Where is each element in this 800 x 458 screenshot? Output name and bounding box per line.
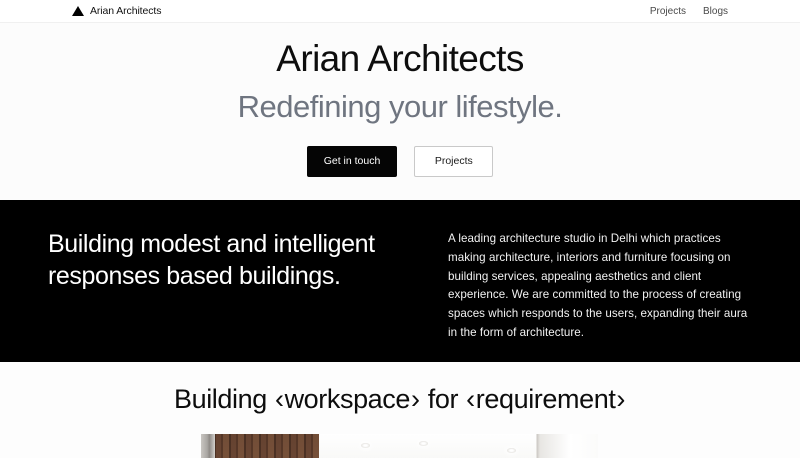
about-band-right: A leading architecture studio in Delhi w… <box>448 228 752 362</box>
about-band-left: Building modest and intelligent response… <box>48 228 448 362</box>
hero-actions: Get in touch Projects <box>307 146 494 177</box>
showcase-heading: Building ‹workspace› for ‹requirement› <box>174 385 626 415</box>
nav-link-blogs[interactable]: Blogs <box>703 6 728 17</box>
hero-subtitle: Redefining your lifestyle. <box>238 89 563 125</box>
showcase-token-requirement: requirement <box>476 384 616 414</box>
wood-paneling-shadow <box>215 434 319 458</box>
chevron-left-icon-2: ‹ <box>465 384 476 414</box>
right-wall-edge <box>537 434 540 458</box>
right-wall <box>536 434 598 458</box>
get-in-touch-button[interactable]: Get in touch <box>307 146 398 177</box>
showcase-token-workspace: workspace <box>285 384 410 414</box>
ceiling-light-3 <box>507 448 516 453</box>
triangle-logo-icon <box>72 6 84 16</box>
nav-link-projects[interactable]: Projects <box>650 6 686 17</box>
about-heading: Building modest and intelligent response… <box>48 228 424 292</box>
brand-name: Arian Architects <box>90 5 161 17</box>
ceiling-light-1 <box>361 443 370 448</box>
hero-title: Arian Architects <box>276 38 523 81</box>
showcase-heading-word-for: for <box>428 384 458 414</box>
chevron-right-icon-2: › <box>615 384 626 414</box>
landing-page: Arian Architects Projects Blogs Arian Ar… <box>0 0 800 458</box>
showcase-heading-word-building: Building <box>174 384 267 414</box>
nav-links: Projects Blogs <box>650 6 728 17</box>
ceiling-light-2 <box>419 441 428 446</box>
door-frame <box>201 434 215 458</box>
brand-logo[interactable]: Arian Architects <box>72 5 161 17</box>
chevron-left-icon-1: ‹ <box>274 384 285 414</box>
projects-button[interactable]: Projects <box>414 146 493 177</box>
chevron-right-icon-1: › <box>410 384 421 414</box>
about-band: Building modest and intelligent response… <box>0 200 800 362</box>
about-paragraph: A leading architecture studio in Delhi w… <box>448 230 752 343</box>
interior-photo <box>201 434 598 458</box>
showcase-image <box>201 434 598 458</box>
top-navbar: Arian Architects Projects Blogs <box>0 0 800 23</box>
hero-section: Arian Architects Redefining your lifesty… <box>0 23 800 200</box>
